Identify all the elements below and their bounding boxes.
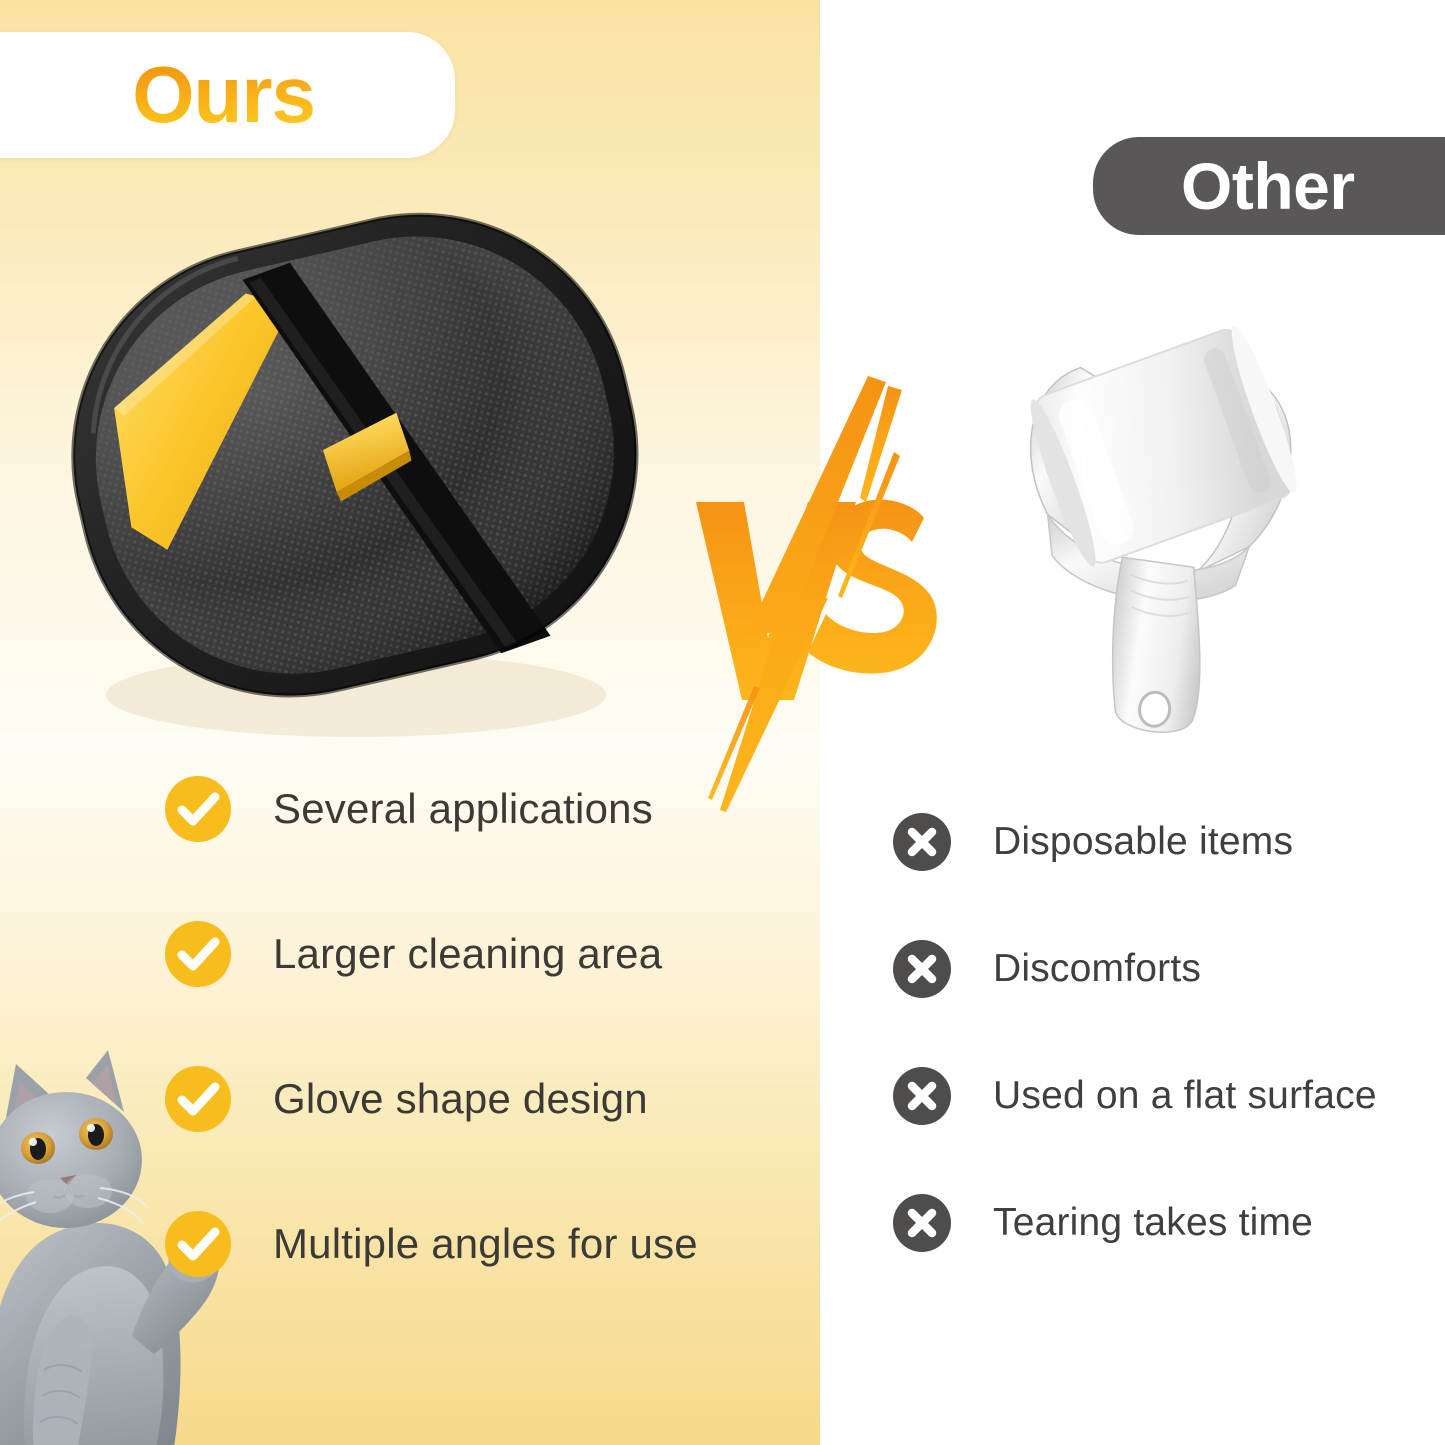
ours-feature-list: Several applications Larger cleaning are… — [165, 775, 785, 1278]
ours-product-image — [36, 175, 676, 745]
other-badge: Other — [1093, 137, 1445, 235]
comparison-infographic: Ours Other Several applications Larger c… — [0, 0, 1445, 1445]
cross-icon — [893, 1194, 951, 1252]
other-badge-label: Other — [1181, 153, 1355, 219]
list-item: Used on a flat surface — [893, 1066, 1413, 1126]
other-product-image — [955, 265, 1410, 735]
list-item: Multiple angles for use — [165, 1210, 785, 1278]
check-icon — [165, 1066, 231, 1132]
list-item-label: Multiple angles for use — [273, 1220, 698, 1268]
list-item-label: Disposable items — [993, 820, 1293, 864]
cross-icon — [893, 813, 951, 871]
vs-lightning-icon — [690, 370, 960, 830]
list-item-label: Larger cleaning area — [273, 930, 662, 978]
list-item: Disposable items — [893, 812, 1413, 872]
list-item: Tearing takes time — [893, 1193, 1413, 1253]
list-item: Larger cleaning area — [165, 920, 785, 988]
list-item: Discomforts — [893, 939, 1413, 999]
other-feature-list: Disposable items Discomforts Used on a f… — [893, 812, 1413, 1253]
cross-icon — [893, 940, 951, 998]
list-item-label: Glove shape design — [273, 1075, 648, 1123]
list-item-label: Tearing takes time — [993, 1201, 1313, 1245]
check-icon — [165, 776, 231, 842]
list-item: Several applications — [165, 775, 785, 843]
ours-badge-label: Ours — [132, 55, 315, 135]
ours-badge: Ours — [0, 32, 455, 158]
check-icon — [165, 1211, 231, 1277]
list-item-label: Discomforts — [993, 947, 1201, 991]
list-item: Glove shape design — [165, 1065, 785, 1133]
list-item-label: Used on a flat surface — [993, 1074, 1377, 1118]
check-icon — [165, 921, 231, 987]
list-item-label: Several applications — [273, 785, 653, 833]
cross-icon — [893, 1067, 951, 1125]
